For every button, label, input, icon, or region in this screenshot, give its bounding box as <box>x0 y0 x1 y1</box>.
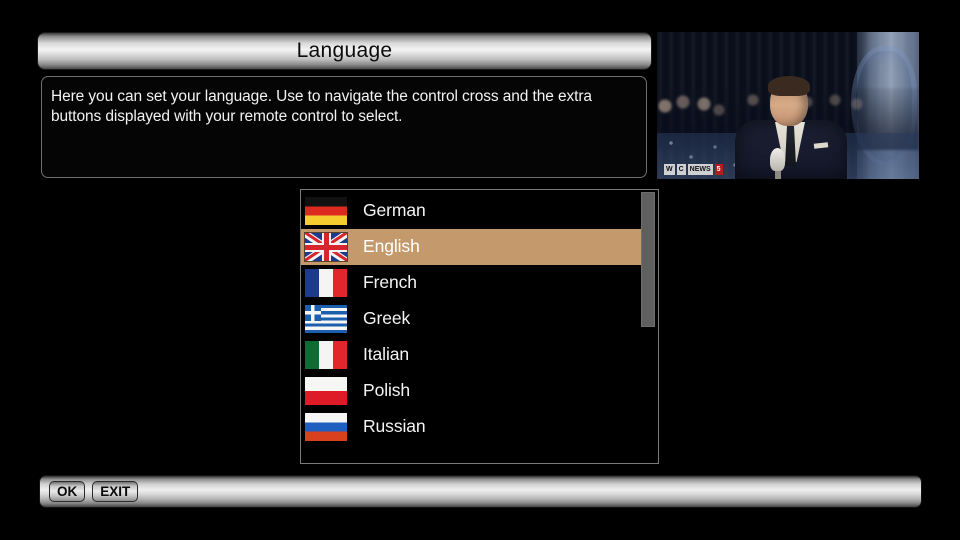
language-row-greek[interactable]: Greek <box>301 301 641 337</box>
language-row-italian[interactable]: Italian <box>301 337 641 373</box>
language-label: English <box>363 238 420 256</box>
live-tv-preview[interactable]: WCNEWS5 <box>657 32 919 179</box>
channel-bug-segment: C <box>677 164 686 175</box>
list-scrollbar-thumb[interactable] <box>641 192 655 327</box>
channel-bug: WCNEWS5 <box>664 164 723 175</box>
flag-icon-italian <box>305 341 347 369</box>
description-panel: Here you can set your language. Use to n… <box>41 76 647 178</box>
language-label: German <box>363 202 426 220</box>
flag-icon-german <box>305 197 347 225</box>
channel-bug-segment: 5 <box>715 164 723 175</box>
flag-icon-english <box>305 233 347 261</box>
language-label: Polish <box>363 382 410 400</box>
language-list-panel[interactable]: GermanEnglishFrenchGreekItalianPolishRus… <box>300 189 659 464</box>
softkey-bar: OKEXIT <box>40 476 921 507</box>
language-row-polish[interactable]: Polish <box>301 373 641 409</box>
language-row-russian[interactable]: Russian <box>301 409 641 445</box>
description-text: Here you can set your language. Use to n… <box>51 87 634 127</box>
language-label: Greek <box>363 310 410 328</box>
language-row-french[interactable]: French <box>301 265 641 301</box>
language-row-english[interactable]: English <box>301 229 642 265</box>
language-label: French <box>363 274 417 292</box>
flag-icon-polish <box>305 377 347 405</box>
preview-reporter-hair <box>768 76 810 96</box>
preview-microphone <box>770 148 785 171</box>
channel-bug-segment: W <box>664 164 675 175</box>
language-list: GermanEnglishFrenchGreekItalianPolishRus… <box>301 193 641 445</box>
tv-settings-screen: Language Here you can set your language.… <box>0 0 960 540</box>
list-scrollbar-track[interactable] <box>641 192 655 461</box>
flag-icon-greek <box>305 305 347 333</box>
language-row-german[interactable]: German <box>301 193 641 229</box>
exit-button[interactable]: EXIT <box>92 481 138 502</box>
language-label: Russian <box>363 418 426 436</box>
page-title: Language <box>297 40 393 63</box>
ok-button[interactable]: OK <box>49 481 85 502</box>
language-label: Italian <box>363 346 409 364</box>
flag-icon-french <box>305 269 347 297</box>
page-title-bar: Language <box>38 33 651 69</box>
flag-icon-russian <box>305 413 347 441</box>
channel-bug-segment: NEWS <box>688 164 713 175</box>
